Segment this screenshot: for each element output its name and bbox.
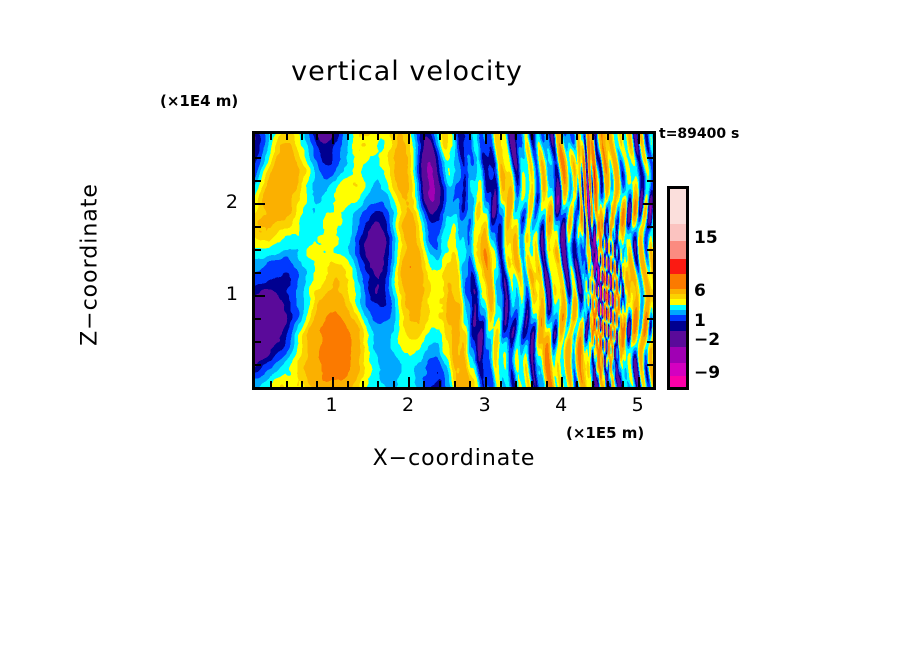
colorbar-tick-label: −9: [694, 363, 720, 383]
contour-field: [255, 134, 653, 387]
y-axis-unit-label: (×1E4 m): [160, 92, 238, 110]
time-annotation: t=89400 s: [659, 126, 739, 142]
colorbar-tick-label: 15: [694, 228, 718, 248]
colorbar-band: [670, 331, 686, 348]
x-tick-label: 5: [618, 394, 658, 416]
colorbar-tick-label: 1: [694, 311, 706, 331]
x-tick-label: 1: [312, 394, 352, 416]
colorbar-band: [670, 299, 686, 306]
colorbar-tick-label: 6: [694, 281, 706, 301]
y-tick-label: 1: [214, 283, 238, 305]
y-axis-title: Z−coordinate: [78, 135, 103, 395]
colorbar-band: [670, 376, 686, 387]
x-axis-title: X−coordinate: [252, 446, 656, 471]
colorbar-band: [670, 363, 686, 377]
colorbar-band: [670, 259, 686, 275]
x-axis-unit-label: (×1E5 m): [566, 424, 644, 442]
plot-area: [252, 131, 656, 390]
x-tick-label: 3: [465, 394, 505, 416]
colorbar-band: [670, 321, 686, 331]
colorbar: [667, 186, 689, 390]
colorbar-band: [670, 241, 686, 258]
colorbar-band: [670, 189, 686, 224]
colorbar-band: [670, 224, 686, 241]
y-tick-label: 2: [214, 191, 238, 213]
chart-title: vertical velocity: [0, 56, 859, 87]
colorbar-band: [670, 274, 686, 289]
colorbar-band: [670, 347, 686, 363]
x-tick-label: 2: [388, 394, 428, 416]
x-tick-label: 4: [541, 394, 581, 416]
colorbar-tick-label: −2: [694, 330, 720, 350]
